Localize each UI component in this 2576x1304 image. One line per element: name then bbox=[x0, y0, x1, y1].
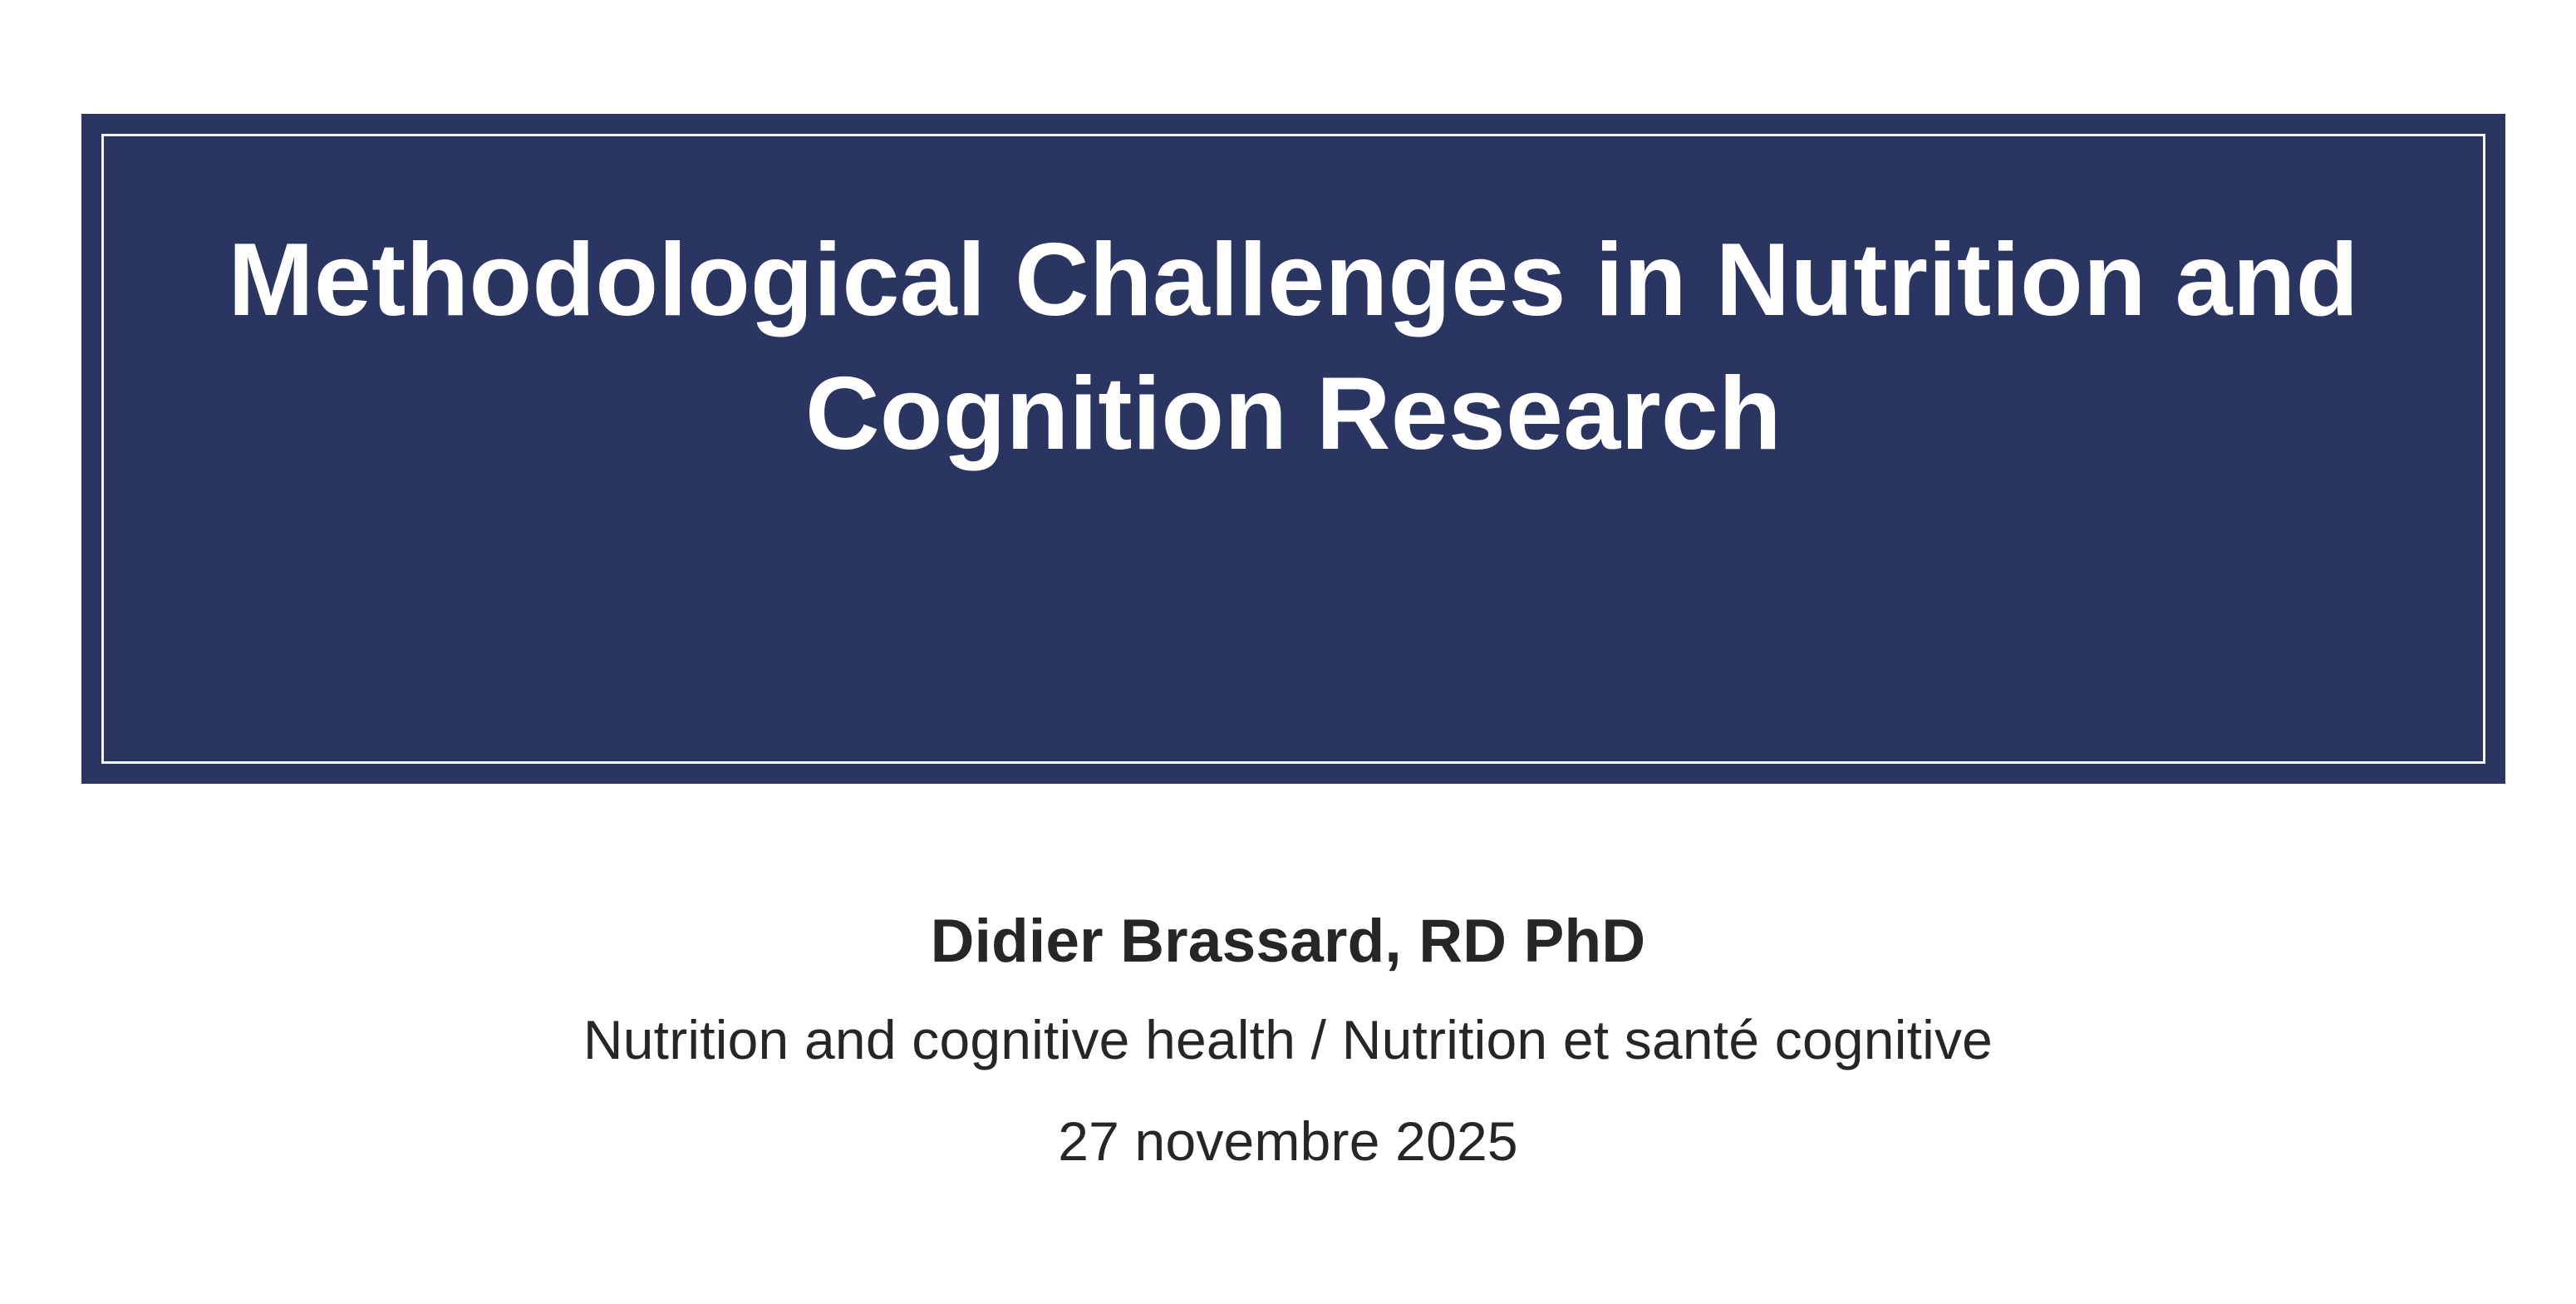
title-slide: Methodological Challenges in Nutrition a… bbox=[0, 0, 2576, 1304]
author-name: Didier Brassard, RD PhD bbox=[0, 911, 2576, 972]
title-banner: Methodological Challenges in Nutrition a… bbox=[81, 114, 2505, 784]
byline-block: Didier Brassard, RD PhD Nutrition and co… bbox=[0, 911, 2576, 1169]
slide-title: Methodological Challenges in Nutrition a… bbox=[173, 214, 2414, 481]
presentation-date: 27 novembre 2025 bbox=[0, 1067, 2576, 1169]
affiliation-line: Nutrition and cognitive health / Nutriti… bbox=[0, 972, 2576, 1067]
title-text-container: Methodological Challenges in Nutrition a… bbox=[81, 114, 2505, 784]
